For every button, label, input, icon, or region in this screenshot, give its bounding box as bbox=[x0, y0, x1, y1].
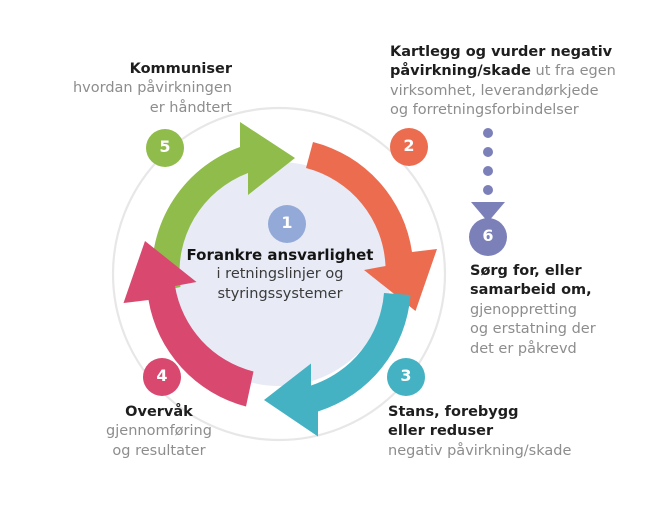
step-badge-6 bbox=[469, 218, 507, 256]
callout-3-line-1: negativ påvirkning/skade bbox=[388, 442, 618, 461]
callout-step-5: Kommuniser hvordan påvirkningen er håndt… bbox=[12, 60, 232, 118]
callout-6-heading-2: samarbeid om, bbox=[470, 281, 648, 300]
callout-step-4: Overvåk gjennomføring og resultater bbox=[54, 403, 264, 461]
center-heading: Forankre ansvarlighet bbox=[175, 245, 385, 265]
callout-4-heading: Overvåk bbox=[54, 403, 264, 422]
callout-6-line-2: og erstatning der bbox=[470, 320, 648, 339]
step-badge-4 bbox=[143, 358, 181, 396]
callout-2-line-4: og forretningsforbindelser bbox=[390, 101, 642, 120]
callout-5-line-2: er håndtert bbox=[12, 99, 232, 118]
callout-2-line-3: virksomhet, leverandørkjede bbox=[390, 82, 642, 101]
callout-2-heading: Kartlegg og vurder negativ bbox=[390, 44, 612, 60]
callout-6-line-1: gjenoppretting bbox=[470, 301, 648, 320]
callout-3-heading: Stans, forebygg bbox=[388, 403, 618, 422]
center-line-2: i retningslinjer og bbox=[175, 265, 385, 285]
step-badge-5 bbox=[146, 129, 184, 167]
center-label: Forankre ansvarlighet i retningslinjer o… bbox=[175, 245, 385, 304]
callout-2-line-1: Kartlegg og vurder negativ bbox=[390, 43, 642, 62]
dotted-arrow-head bbox=[471, 202, 505, 222]
center-line-3: styringssystemer bbox=[175, 285, 385, 305]
callout-2-sub-inline: ut fra egen bbox=[531, 63, 616, 79]
callout-4-line-2: og resultater bbox=[54, 442, 264, 461]
callout-6-heading: Sørg for, eller bbox=[470, 262, 648, 281]
step-badge-3 bbox=[387, 358, 425, 396]
step-badge-2 bbox=[390, 128, 428, 166]
callout-5-line-1: hvordan påvirkningen bbox=[12, 79, 232, 98]
callout-5-heading: Kommuniser bbox=[12, 60, 232, 79]
dotted-arrow-to-step-6 bbox=[471, 128, 505, 222]
callout-2-heading-2: påvirkning/skade bbox=[390, 63, 531, 79]
callout-2-line-2: påvirkning/skade ut fra egen bbox=[390, 62, 642, 81]
cycle-diagram: 5 2 3 4 1 6 Forankre ansvarlighet i retn… bbox=[0, 0, 656, 516]
callout-3-heading-2: eller reduser bbox=[388, 422, 618, 441]
callout-step-3: Stans, forebygg eller reduser negativ på… bbox=[388, 403, 618, 461]
step-badge-1 bbox=[268, 205, 306, 243]
callout-4-line-1: gjennomføring bbox=[54, 422, 264, 441]
callout-step-6: Sørg for, eller samarbeid om, gjenoppret… bbox=[470, 262, 648, 359]
callout-step-2: Kartlegg og vurder negativ påvirkning/sk… bbox=[390, 43, 642, 121]
callout-6-line-3: det er påkrevd bbox=[470, 340, 648, 359]
